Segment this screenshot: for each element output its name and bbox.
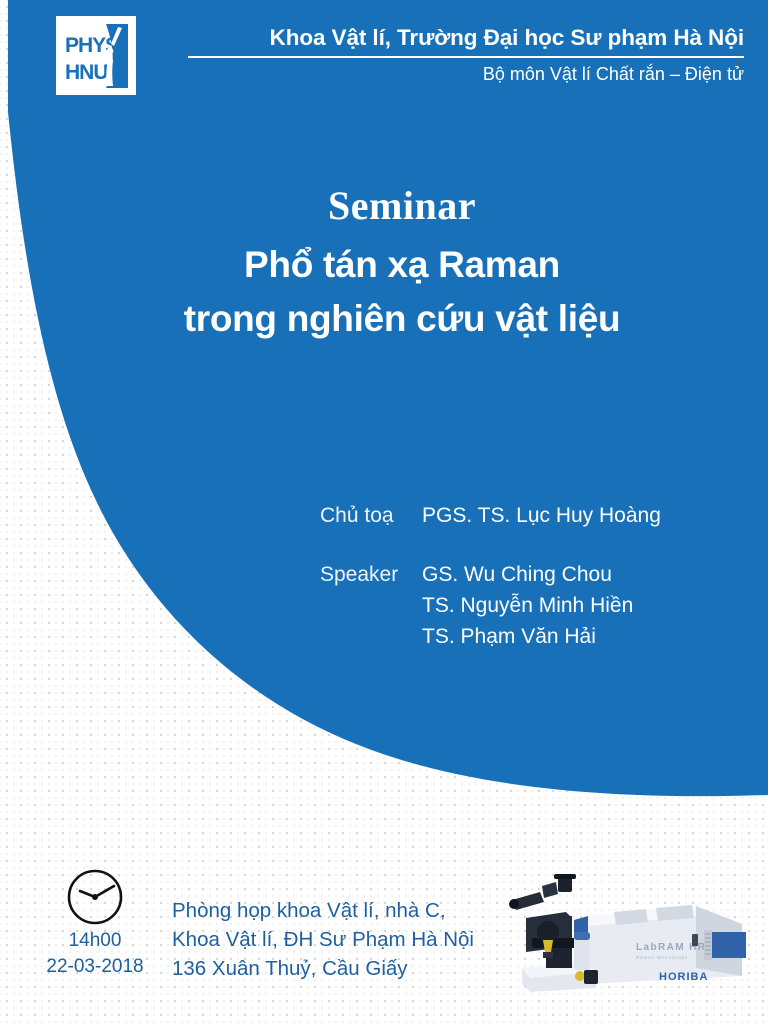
poster-header: PHYS HNUE Khoa Vật lí, Trường Đại học Sư… xyxy=(8,0,768,110)
venue-block: Phòng họp khoa Vật lí, nhà C, Khoa Vật l… xyxy=(172,896,474,983)
seminar-kicker: Seminar xyxy=(122,182,682,230)
credit-row-chair: Chủ toạ PGS. TS. Lục Huy Hoàng xyxy=(320,500,661,531)
department-name: Bộ môn Vật lí Chất rắn – Điện tử xyxy=(188,63,744,86)
credit-names-speaker: GS. Wu Ching Chou TS. Nguyễn Minh Hiền T… xyxy=(422,559,633,652)
credit-label-speaker: Speaker xyxy=(320,559,412,590)
raman-spectrometer-icon: LabRAM HR Raman Microscope HORIBA xyxy=(496,872,756,996)
clock-icon-wrap xyxy=(20,866,170,928)
credit-name: TS. Phạm Văn Hải xyxy=(422,621,633,652)
faculty-name: Khoa Vật lí, Trường Đại học Sư phạm Hà N… xyxy=(188,24,744,52)
phys-hnue-logo: PHYS HNUE xyxy=(56,16,136,95)
credit-label-chair: Chủ toạ xyxy=(320,500,412,531)
svg-text:Raman Microscope: Raman Microscope xyxy=(636,955,688,960)
raman-spectrometer-photo: LabRAM HR Raman Microscope HORIBA xyxy=(496,872,756,996)
credits-block: Chủ toạ PGS. TS. Lục Huy Hoàng Speaker G… xyxy=(320,500,661,652)
credit-names-chair: PGS. TS. Lục Huy Hoàng xyxy=(422,500,661,531)
title-block: Seminar Phổ tán xạ Raman trong nghiên cứ… xyxy=(122,182,682,346)
credit-name: TS. Nguyễn Minh Hiền xyxy=(422,590,633,621)
seminar-title-line-1: Phổ tán xạ Raman xyxy=(122,238,682,292)
phys-hnue-logo-icon: PHYS HNUE xyxy=(56,16,136,95)
venue-line-2: Khoa Vật lí, ĐH Sư Phạm Hà Nội xyxy=(172,925,474,954)
event-date: 22-03-2018 xyxy=(20,954,170,980)
credit-row-speaker: Speaker GS. Wu Ching Chou TS. Nguyễn Min… xyxy=(320,559,661,652)
seminar-poster: PHYS HNUE Khoa Vật lí, Trường Đại học Sư… xyxy=(0,0,768,1024)
credit-name: PGS. TS. Lục Huy Hoàng xyxy=(422,500,661,531)
credit-name: GS. Wu Ching Chou xyxy=(422,559,633,590)
seminar-title-line-2: trong nghiên cứu vật liệu xyxy=(122,292,682,346)
svg-text:HORIBA: HORIBA xyxy=(659,971,708,983)
clock-icon xyxy=(66,868,124,926)
event-time: 14h00 xyxy=(20,928,170,954)
venue-line-1: Phòng họp khoa Vật lí, nhà C, xyxy=(172,896,474,925)
header-divider xyxy=(188,56,744,58)
venue-line-3: 136 Xuân Thuỷ, Cầu Giấy xyxy=(172,954,474,983)
when-block: 14h00 22-03-2018 xyxy=(20,866,170,980)
header-text-block: Khoa Vật lí, Trường Đại học Sư phạm Hà N… xyxy=(188,24,744,86)
